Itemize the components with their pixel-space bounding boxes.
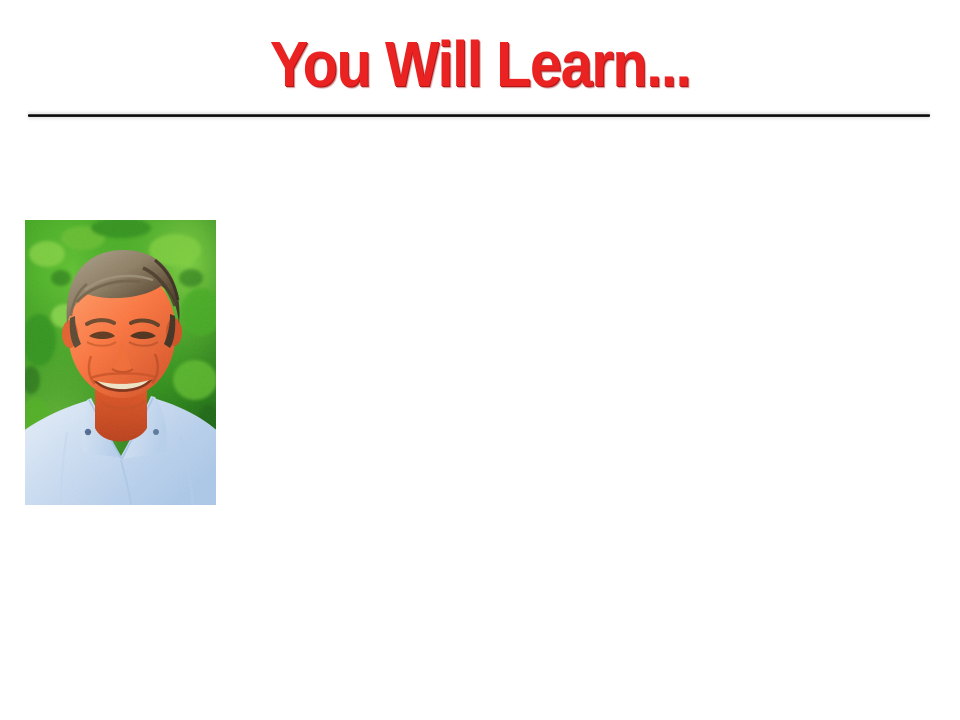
title-divider-rule <box>28 114 930 117</box>
slide-canvas: You Will Learn... <box>0 0 960 720</box>
page-title: You Will Learn... <box>48 28 912 100</box>
portrait-illustration <box>25 220 216 505</box>
portrait-photo <box>25 220 216 505</box>
